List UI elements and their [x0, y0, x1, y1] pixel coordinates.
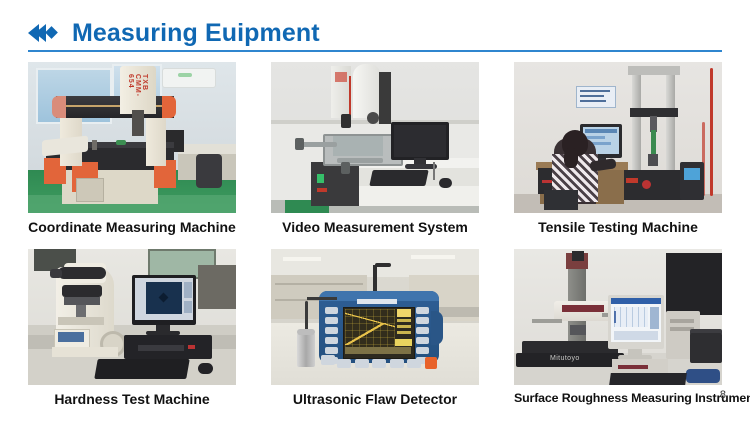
- page-title: Measuring Euipment: [72, 21, 320, 46]
- equipment-caption: Tensile Testing Machine: [514, 220, 722, 235]
- tensile-testing-machine-photo: [514, 62, 722, 213]
- equipment-item-tensile-testing-machine[interactable]: Tensile Testing Machine: [514, 62, 722, 235]
- equipment-item-ultrasonic-flaw-detector[interactable]: Ultrasonic Flaw Detector: [271, 249, 479, 407]
- equipment-item-hardness-test-machine[interactable]: Hardness Test Machine: [28, 249, 236, 407]
- hardness-test-machine-photo: [28, 249, 236, 385]
- equipment-item-surface-roughness-measuring-instrument[interactable]: Mitutoyo: [514, 249, 722, 407]
- equipment-row-1: TXB CMM-654 Coordinate Measuring Machine: [28, 62, 722, 235]
- surface-roughness-measuring-instrument-photo: Mitutoyo: [514, 249, 722, 385]
- keypad-right: [416, 307, 431, 355]
- equipment-caption: Surface Roughness Measuring Instrument: [514, 392, 722, 406]
- coordinate-measuring-machine-photo: TXB CMM-654: [28, 62, 236, 213]
- equipment-caption: Coordinate Measuring Machine: [28, 220, 236, 235]
- slide-header: Measuring Euipment: [28, 13, 722, 53]
- title-divider: [28, 50, 722, 52]
- equipment-item-coordinate-measuring-machine[interactable]: TXB CMM-654 Coordinate Measuring Machine: [28, 62, 236, 235]
- equipment-caption: Video Measurement System: [271, 220, 479, 235]
- equipment-row-2: Hardness Test Machine: [28, 249, 722, 407]
- video-measurement-system-photo: [271, 62, 479, 213]
- equipment-grid: TXB CMM-654 Coordinate Measuring Machine: [28, 62, 722, 408]
- equipment-item-video-measurement-system[interactable]: Video Measurement System: [271, 62, 479, 235]
- mitutoyo-brand-label: Mitutoyo: [550, 355, 588, 362]
- cmm-brand-label: TXB CMM-654: [128, 74, 148, 108]
- keypad-left: [325, 307, 340, 355]
- diamond-bullet-icon: [28, 22, 62, 44]
- equipment-caption: Hardness Test Machine: [28, 392, 236, 407]
- function-keys: [337, 359, 421, 368]
- ultrasonic-flaw-detector-photo: [271, 249, 479, 385]
- page-number: 8: [720, 389, 726, 401]
- equipment-caption: Ultrasonic Flaw Detector: [271, 392, 479, 407]
- slide: Measuring Euipment: [0, 0, 750, 422]
